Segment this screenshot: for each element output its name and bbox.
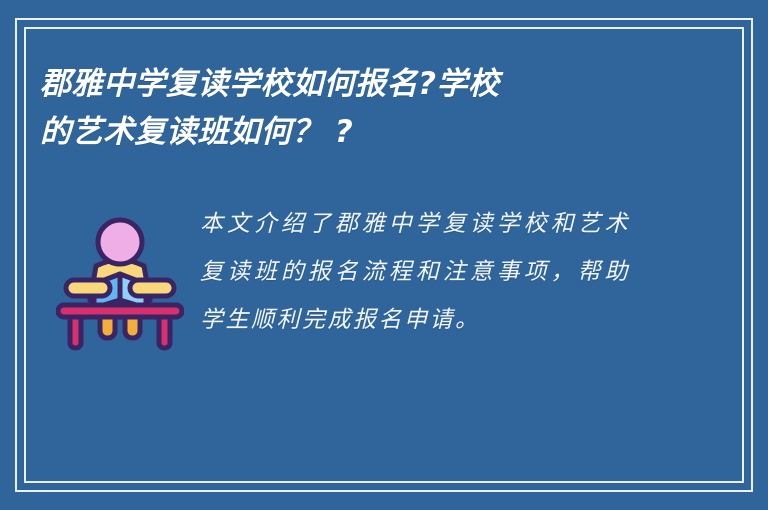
content-row: 本文介绍了郡雅中学复读学校和艺术复读班的报名流程和注意事项，帮助学生顺利完成报名… bbox=[40, 200, 728, 352]
illustration-container bbox=[40, 200, 200, 352]
student-reading-at-desk-icon bbox=[56, 212, 184, 352]
title-line-2: 的艺术复读班如何？ ? bbox=[40, 108, 700, 156]
page-title: 郡雅中学复读学校如何报名?学校 的艺术复读班如何？ ? bbox=[40, 60, 700, 156]
title-line-1: 郡雅中学复读学校如何报名?学校 bbox=[40, 60, 700, 108]
article-thumbnail-card: 郡雅中学复读学校如何报名?学校 的艺术复读班如何？ ? bbox=[0, 0, 768, 510]
article-summary-text: 本文介绍了郡雅中学复读学校和艺术复读班的报名流程和注意事项，帮助学生顺利完成报名… bbox=[200, 200, 630, 344]
